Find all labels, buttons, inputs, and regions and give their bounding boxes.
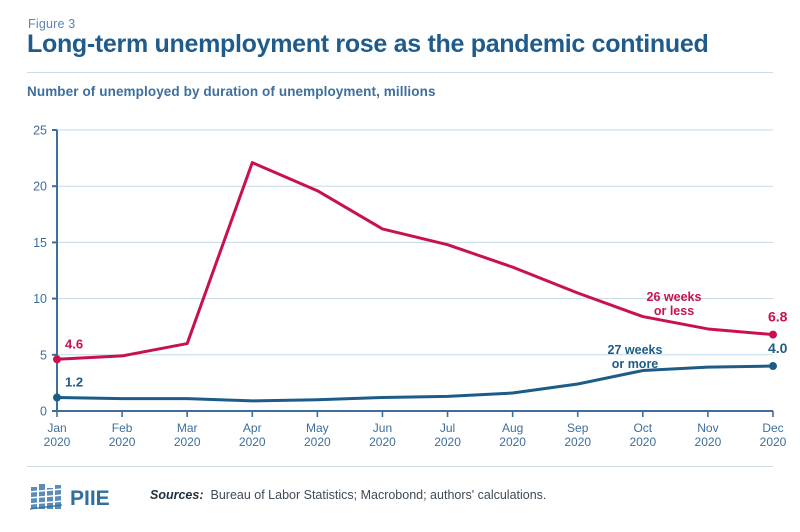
x-tick-label-month: Sep (567, 421, 589, 435)
x-tick-label-year: 2020 (499, 435, 526, 449)
y-tick-label: 20 (33, 180, 47, 194)
series-line (57, 366, 773, 401)
series-label-27-weeks-line2: or more (612, 357, 659, 371)
x-tick-label-year: 2020 (434, 435, 461, 449)
pink-start-value-label: 4.6 (65, 336, 83, 351)
x-tick-label-month: Dec (762, 421, 783, 435)
x-tick-label-month: Nov (697, 421, 718, 435)
y-tick-label: 10 (33, 292, 47, 306)
y-axis-ticks: 0510152025 (33, 124, 57, 419)
y-tick-label: 5 (40, 348, 47, 362)
x-tick-label-month: Jan (47, 421, 66, 435)
y-tick-label: 15 (33, 236, 47, 250)
series-end-point (769, 362, 777, 370)
x-tick-label-month: Aug (502, 421, 523, 435)
chart-area: 0510152025 Jan2020Feb2020Mar2020Apr2020M… (0, 0, 800, 532)
figure-page: Figure 3 Long-term unemployment rose as … (0, 0, 800, 532)
x-tick-label-year: 2020 (564, 435, 591, 449)
blue-end-value-label: 4.0 (768, 340, 788, 356)
x-tick-label-month: Jul (440, 421, 455, 435)
y-tick-label: 0 (40, 405, 47, 419)
x-tick-label-year: 2020 (369, 435, 396, 449)
series-label-27-weeks-line1: 27 weeks (608, 343, 663, 357)
x-tick-label-month: Apr (243, 421, 262, 435)
x-tick-label-year: 2020 (629, 435, 656, 449)
x-tick-label-month: Mar (177, 421, 198, 435)
piie-logo-text: PIIE (70, 487, 110, 510)
x-tick-label-year: 2020 (304, 435, 331, 449)
sources-text: Bureau of Labor Statistics; Macrobond; a… (211, 488, 547, 502)
series-annotations: 4.61.26.84.026 weeksor less27 weeksor mo… (65, 290, 788, 390)
x-tick-label-year: 2020 (174, 435, 201, 449)
series-start-point (53, 394, 61, 402)
y-tick-label: 25 (33, 124, 47, 138)
x-tick-label-month: May (306, 421, 329, 435)
sources-label: Sources: (150, 488, 204, 502)
pink-end-value-label: 6.8 (768, 309, 788, 325)
line-chart: 0510152025 Jan2020Feb2020Mar2020Apr2020M… (0, 0, 800, 460)
series-label-26-weeks-line1: 26 weeks (647, 290, 702, 304)
series-end-point (769, 331, 777, 339)
series-label-26-weeks-line2: or less (654, 304, 694, 318)
series-line (57, 163, 773, 360)
footer-divider (27, 466, 773, 467)
x-tick-label-month: Oct (633, 421, 652, 435)
x-tick-label-month: Feb (112, 421, 133, 435)
piie-logo: PIIE (29, 482, 121, 512)
x-tick-label-month: Jun (373, 421, 392, 435)
x-tick-label-year: 2020 (695, 435, 722, 449)
blue-start-value-label: 1.2 (65, 375, 83, 390)
x-tick-label-year: 2020 (109, 435, 136, 449)
sources-line: Sources:Bureau of Labor Statistics; Macr… (150, 488, 546, 502)
piie-logo-mark: PIIE (29, 482, 121, 512)
x-axis-ticks: Jan2020Feb2020Mar2020Apr2020May2020Jun20… (44, 411, 787, 449)
x-tick-label-year: 2020 (44, 435, 71, 449)
data-series (53, 163, 777, 402)
series-start-point (53, 355, 61, 363)
x-tick-label-year: 2020 (760, 435, 787, 449)
x-tick-label-year: 2020 (239, 435, 266, 449)
